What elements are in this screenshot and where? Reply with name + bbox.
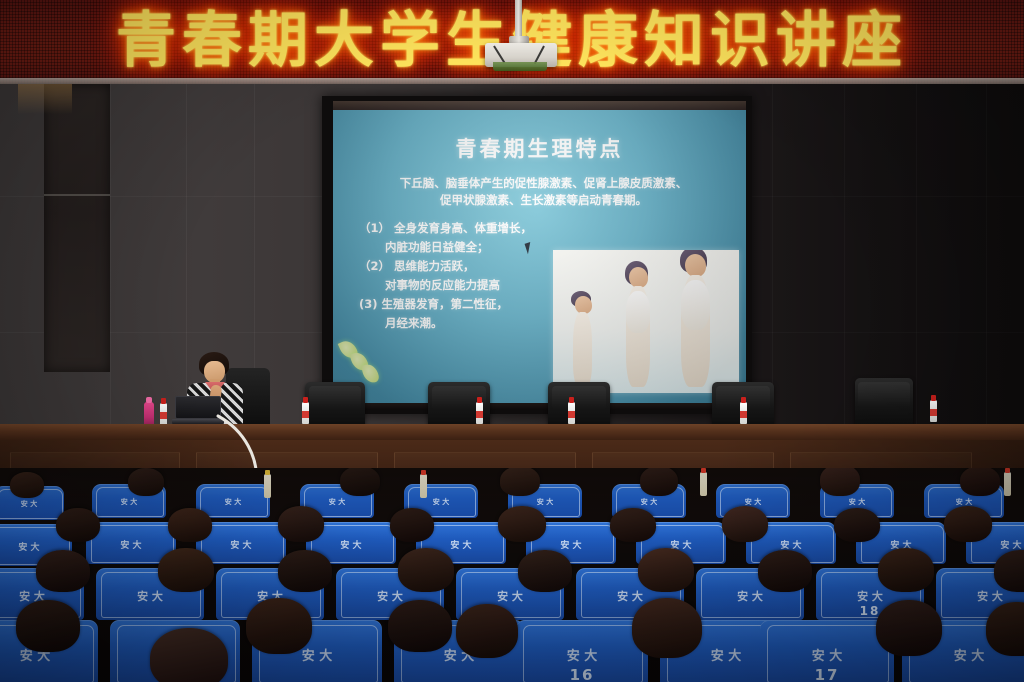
- audience-head: [944, 506, 992, 542]
- audience-head: [398, 548, 454, 592]
- audience-head: [960, 468, 1000, 496]
- seat-number: 17: [760, 666, 894, 682]
- lecture-hall-photo: 青春期大学生健康知识讲座 青春期生理特点 下丘脑、脑垂体产生的促性腺激素、促肾上: [0, 0, 1024, 682]
- figure-leotard: [681, 280, 710, 330]
- seat-emblem: 安 大: [205, 538, 277, 558]
- audience-bottle[interactable]: [700, 472, 707, 496]
- bullet-marker: （2）: [359, 259, 390, 273]
- audience-head: [500, 468, 540, 496]
- audience-head: [340, 468, 380, 496]
- audience-head: [36, 550, 90, 592]
- seat-emblem: 安 大: [95, 538, 167, 558]
- audience-head: [640, 468, 678, 496]
- audience-bottle[interactable]: [264, 474, 271, 498]
- water-bottle[interactable]: [568, 402, 575, 424]
- projector-lens: [493, 62, 547, 71]
- audience-bottle[interactable]: [1004, 472, 1011, 496]
- audience-head: [498, 506, 546, 542]
- bullet-marker: （1）: [359, 221, 390, 235]
- audience-head: [128, 468, 164, 496]
- audience-head: [278, 550, 332, 592]
- audience-head: [456, 604, 518, 658]
- projection-screen-frame: 青春期生理特点 下丘脑、脑垂体产生的促性腺激素、促肾上腺皮质激素、 促甲状腺激素…: [322, 96, 752, 414]
- audience-bottle[interactable]: [420, 474, 427, 498]
- figure-adult: [673, 250, 721, 387]
- figure-leotard: [626, 291, 650, 333]
- seat-emblem: 安 大: [99, 497, 158, 513]
- auditorium-seat-16[interactable]: 安 大 16: [516, 620, 648, 682]
- audience-head: [158, 548, 214, 592]
- bullet-marker: (3): [359, 297, 378, 311]
- audience-head: [390, 508, 434, 542]
- stage-chair[interactable]: [548, 382, 610, 428]
- figure-head: [685, 254, 706, 277]
- seat-emblem: 安 大: [203, 497, 262, 513]
- audience-head: [518, 550, 572, 592]
- audience-head: [876, 600, 942, 656]
- leaf-icon: [361, 363, 380, 385]
- bullet-line-1: 全身发育身高、体重增长，: [394, 221, 532, 235]
- audience-head: [10, 472, 44, 498]
- audience-head: [820, 468, 860, 496]
- seat-emblem: 安 大: [315, 538, 387, 558]
- audience-head: [632, 598, 702, 658]
- water-bottle[interactable]: [476, 402, 483, 424]
- bullet-line-1: 生殖器发育，第二性征，: [382, 297, 509, 311]
- audience-head: [16, 600, 80, 652]
- figure-adolescent: [619, 261, 661, 387]
- bullet-line-1: 思维能力活跃，: [394, 259, 475, 273]
- audience-head: [638, 548, 694, 592]
- figure-child: [567, 291, 601, 387]
- figure-head: [629, 267, 648, 288]
- slide-intro-line-1: 下丘脑、脑垂体产生的促性腺激素、促肾上腺皮质激素、: [400, 176, 688, 190]
- slide-illustration: [553, 250, 739, 393]
- audience-head: [56, 508, 100, 542]
- screen-top-edge: [333, 101, 746, 110]
- audience-head: [834, 508, 880, 542]
- water-bottle[interactable]: [930, 400, 937, 422]
- projection-screen: 青春期生理特点 下丘脑、脑垂体产生的促性腺激素、促肾上腺皮质激素、 促甲状腺激素…: [333, 101, 746, 410]
- seat-emblem: 安 大: [1, 499, 57, 515]
- head-table-top: [0, 424, 1024, 440]
- audience-head: [758, 550, 812, 592]
- leaf-decoration-icon: [341, 340, 391, 388]
- projector-icon: [473, 0, 569, 82]
- water-bottle[interactable]: [740, 402, 747, 424]
- audience-head: [168, 508, 212, 542]
- seat-number: 16: [516, 666, 648, 682]
- slide-title: 青春期生理特点: [333, 133, 746, 163]
- water-bottle[interactable]: [160, 403, 167, 425]
- audience-head: [246, 598, 312, 654]
- audience-head: [878, 548, 934, 592]
- slide-intro-text: 下丘脑、脑垂体产生的促性腺激素、促肾上腺皮质激素、 促甲状腺激素、生长激素等启动…: [355, 175, 732, 209]
- audience-seating: 安 大 安 大 安 大 安 大 安 大 安 大 安 大 安 大 安 大 安 大 …: [0, 468, 1024, 682]
- slide-intro-line-2: 促甲状腺激素、生长激素等启动青春期。: [440, 193, 647, 207]
- screen-bottom-edge: [333, 403, 746, 410]
- audience-head: [722, 506, 768, 542]
- water-bottle[interactable]: [302, 402, 309, 424]
- figure-body: [573, 312, 592, 387]
- audience-head: [150, 628, 228, 682]
- stage-chair[interactable]: [305, 382, 365, 428]
- audience-head: [278, 506, 324, 542]
- laptop-screen: [175, 396, 221, 419]
- stage-chair[interactable]: [855, 378, 913, 428]
- audience-head: [388, 600, 452, 652]
- auditorium-seat-17[interactable]: 安 大 17: [760, 620, 894, 682]
- audience-head: [610, 508, 656, 542]
